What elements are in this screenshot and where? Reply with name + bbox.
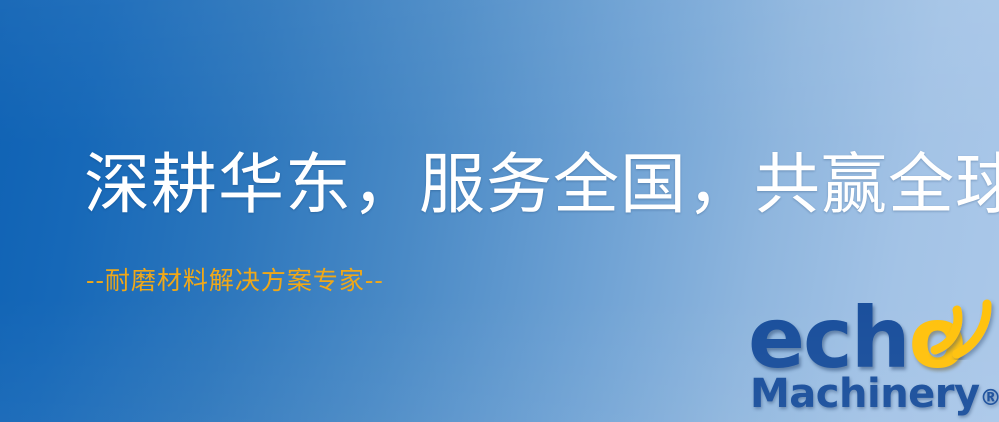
logo-tagline-text: Machinery <box>750 371 980 417</box>
hero-banner: 深耕华东，服务全国，共赢全球 --耐磨材料解决方案专家-- echo Machi… <box>0 0 999 422</box>
page-title: 深耕华东，服务全国，共赢全球 <box>84 152 999 218</box>
logo-tagline: Machinery® <box>750 374 999 414</box>
echo-waves-icon <box>927 294 999 360</box>
company-logo[interactable]: echo Machinery® <box>742 296 999 422</box>
registered-trademark-icon: ® <box>980 386 999 411</box>
page-subtitle: --耐磨材料解决方案专家-- <box>86 268 384 293</box>
